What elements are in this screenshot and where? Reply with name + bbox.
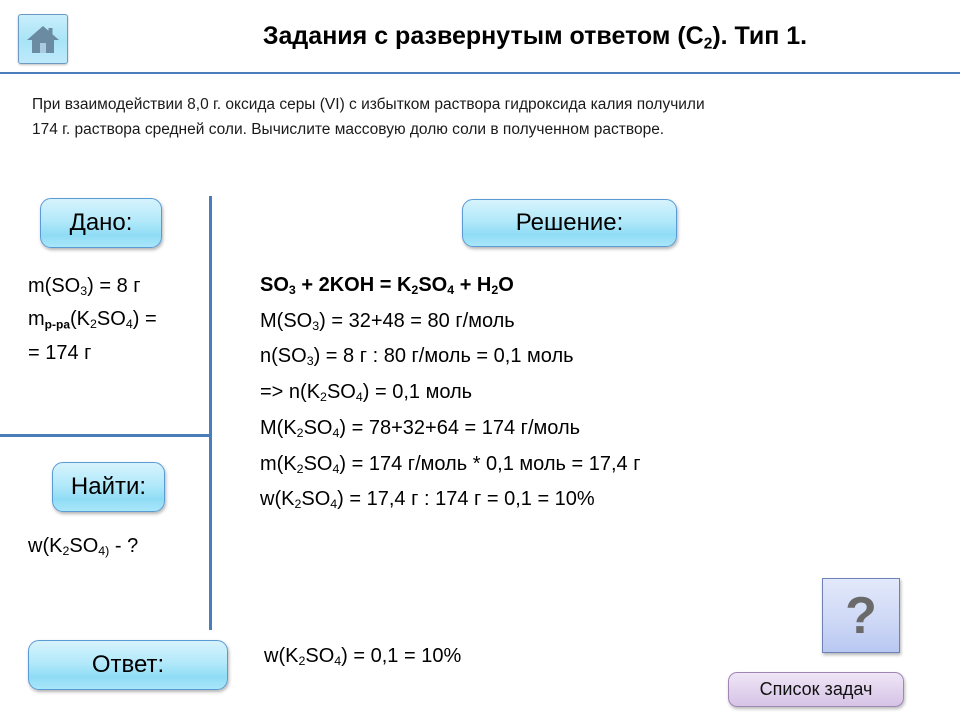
solution-equation: SO3 + 2KOH = K2SO4 + H2O <box>260 270 641 306</box>
solution-line-3: n(SO3) = 8 г : 80 г/моль = 0,1 моль <box>260 341 641 377</box>
home-icon <box>26 23 60 55</box>
solution-line-6: m(K2SO4) = 174 г/моль * 0,1 моль = 17,4 … <box>260 449 641 485</box>
sol2-b: ) = 32+48 = 80 г/моль <box>319 310 515 332</box>
find-sub2: 4) <box>98 544 109 558</box>
given-line-2-d: ) = <box>133 308 157 330</box>
sol6-sub1: 2 <box>297 462 304 476</box>
task-list-label: Список задач <box>760 679 873 700</box>
given-line-2: mр-ра(K2SO4) = <box>28 305 157 339</box>
sol6-b: SO <box>304 453 333 475</box>
header-divider <box>0 72 960 74</box>
eq-b: + 2KOH = K <box>296 274 412 296</box>
solution-line-7: w(K2SO4) = 17,4 г : 174 г = 0,1 = 10% <box>260 484 641 520</box>
task-list-button[interactable]: Список задач <box>728 672 904 707</box>
help-button[interactable]: ? <box>822 578 900 653</box>
sol5-b: SO <box>304 417 333 439</box>
find-label-button[interactable]: Найти: <box>52 462 165 512</box>
sol6-a: m(K <box>260 453 297 475</box>
sol7-b: SO <box>301 488 330 510</box>
sol3-sub1: 3 <box>307 355 314 369</box>
given-line-1-a: m(SO <box>28 275 80 297</box>
find-block: w(K2SO4) - ? <box>28 532 138 565</box>
given-block: m(SO3) = 8 г mр-ра(K2SO4) = = 174 г <box>28 272 157 367</box>
given-label-text: Дано: <box>70 209 133 237</box>
vertical-divider <box>209 196 212 630</box>
given-line-2-b: (K <box>70 308 90 330</box>
given-line-1: m(SO3) = 8 г <box>28 272 157 305</box>
sol6-c: ) = 174 г/моль * 0,1 моль = 17,4 г <box>339 453 640 475</box>
sol4-a: => n(K <box>260 381 320 403</box>
eq-a: SO <box>260 274 289 296</box>
question-mark-icon: ? <box>845 590 877 642</box>
sol4-c: ) = 0,1 моль <box>363 381 472 403</box>
statement-line-2: 174 г. раствора средней соли. Вычислите … <box>32 117 912 142</box>
home-button[interactable] <box>18 14 68 64</box>
sol2-a: M(SO <box>260 310 312 332</box>
ans-a: w(K <box>264 645 298 667</box>
answer-label-button[interactable]: Ответ: <box>28 640 228 690</box>
solution-line-4: => n(K2SO4) = 0,1 моль <box>260 377 641 413</box>
solution-block: SO3 + 2KOH = K2SO4 + H2O M(SO3) = 32+48 … <box>260 270 641 520</box>
page-title-main: Задания с развернутым ответом (С <box>263 22 704 50</box>
given-line-2-a: m <box>28 308 45 330</box>
ans-c: ) = 0,1 = 10% <box>341 645 461 667</box>
problem-statement: При взаимодействии 8,0 г. оксида серы (V… <box>32 92 912 142</box>
horizontal-divider <box>0 434 210 437</box>
solution-label-button[interactable]: Решение: <box>462 199 677 247</box>
sol4-b: SO <box>327 381 356 403</box>
given-line-3: = 174 г <box>28 339 157 367</box>
answer-label-text: Ответ: <box>92 651 164 679</box>
eq-d: + H <box>454 274 491 296</box>
eq-sub1: 3 <box>289 283 296 297</box>
sol3-b: ) = 8 г : 80 г/моль = 0,1 моль <box>314 345 574 367</box>
sol5-sub1: 2 <box>297 426 304 440</box>
given-line-2-sub1: 2 <box>90 317 97 331</box>
find-a: w(K <box>28 535 62 557</box>
sol5-a: M(K <box>260 417 297 439</box>
eq-e: O <box>498 274 514 296</box>
eq-c: SO <box>418 274 447 296</box>
find-c: - ? <box>109 535 138 557</box>
solution-line-2: M(SO3) = 32+48 = 80 г/моль <box>260 306 641 342</box>
solution-line-5: M(K2SO4) = 78+32+64 = 174 г/моль <box>260 413 641 449</box>
statement-line-1: При взаимодействии 8,0 г. оксида серы (V… <box>32 92 912 117</box>
solution-label-text: Решение: <box>516 209 624 237</box>
find-b: SO <box>69 535 98 557</box>
given-label-button[interactable]: Дано: <box>40 198 162 248</box>
page-title-tail: ). Тип 1. <box>712 22 807 50</box>
answer-value: w(K2SO4) = 0,1 = 10% <box>264 645 461 668</box>
find-label-text: Найти: <box>71 473 146 501</box>
sol5-c: ) = 78+32+64 = 174 г/моль <box>339 417 580 439</box>
page-title: Задания с развернутым ответом (С2). Тип … <box>190 20 880 60</box>
given-line-2-c: SO <box>97 308 126 330</box>
given-line-1-b: ) = 8 г <box>87 275 140 297</box>
given-line-2-sub2: 4 <box>126 317 133 331</box>
ans-b: SO <box>305 645 334 667</box>
sol4-sub2: 4 <box>356 390 363 404</box>
given-line-2-suffix: р-ра <box>45 318 70 332</box>
sol7-c: ) = 17,4 г : 174 г = 0,1 = 10% <box>337 488 595 510</box>
sol3-a: n(SO <box>260 345 307 367</box>
sol4-sub1: 2 <box>320 390 327 404</box>
sol7-a: w(K <box>260 488 294 510</box>
